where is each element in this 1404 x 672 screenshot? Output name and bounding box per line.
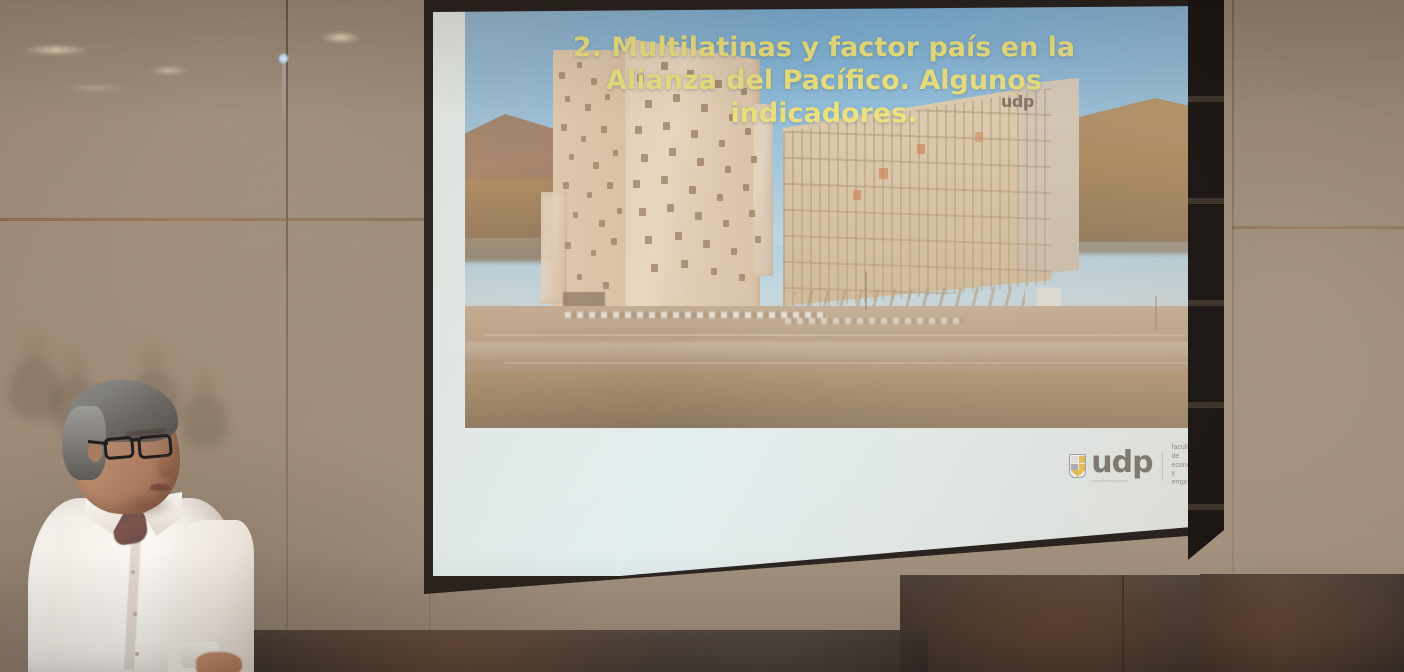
cube-window	[577, 274, 582, 280]
cube-window	[667, 204, 674, 212]
cube-window	[641, 154, 648, 162]
cube-window	[689, 186, 696, 194]
projected-slide: udp	[433, 6, 1203, 576]
light-reflection	[62, 86, 128, 90]
cube-window	[691, 130, 698, 138]
cube-window	[725, 166, 731, 173]
cube-window	[731, 248, 737, 255]
cube-window	[581, 136, 586, 142]
cube-window	[587, 192, 592, 198]
udp-subtitle: universidad diego portales	[1091, 480, 1152, 483]
cube-window	[639, 208, 646, 216]
cube-window	[751, 156, 757, 163]
hand	[196, 652, 242, 672]
cube-window	[661, 176, 668, 184]
cube-building-plinth	[541, 192, 567, 304]
udp-wordmark: udp universidad diego portales	[1091, 448, 1152, 483]
stone-wainscot	[1200, 574, 1404, 672]
photo-grass	[465, 372, 1203, 428]
ground-fence	[485, 334, 1185, 336]
cube-window	[703, 240, 710, 248]
projection-screen[interactable]: udp	[424, 0, 1214, 594]
cube-window	[743, 184, 749, 191]
cube-window	[695, 212, 702, 220]
presentation-scene: udp	[0, 0, 1404, 672]
lit-window	[917, 144, 925, 154]
cube-window	[723, 220, 729, 227]
shield-cell	[1071, 456, 1078, 463]
light-reflection	[320, 34, 362, 41]
shield-bottom	[1070, 470, 1085, 477]
lamp-post	[1155, 296, 1157, 330]
shirt-button	[135, 652, 139, 656]
cube-window	[697, 158, 704, 166]
mouth	[150, 484, 170, 491]
cube-window	[573, 212, 578, 218]
cube-window	[563, 182, 569, 189]
cube-window	[711, 268, 717, 275]
wall-seam-vertical	[1232, 0, 1234, 672]
nose	[158, 456, 174, 478]
light-reflection	[148, 68, 190, 73]
udp-word: udp	[1091, 448, 1152, 478]
shirt-button	[131, 570, 135, 574]
cube-window	[717, 194, 723, 201]
cube-window	[565, 242, 571, 249]
cube-window	[675, 232, 682, 240]
lit-window	[975, 132, 983, 142]
cube-window	[719, 140, 725, 147]
cube-window	[645, 236, 652, 244]
glasses-left-lens	[103, 436, 135, 461]
shield-cell	[1079, 456, 1086, 463]
slide-footer-logo: udp universidad diego portales facultad …	[1069, 444, 1203, 488]
screen-frame-right-segments	[1188, 0, 1224, 560]
stone-wainscot	[248, 630, 928, 672]
slide-title-line-1: 2. Multilatinas y factor país en la	[529, 32, 1119, 65]
slide-title-line-3: indicadores.	[529, 98, 1119, 131]
udp-shield-icon	[1069, 454, 1086, 478]
cube-window	[603, 282, 609, 289]
cube-window	[593, 162, 599, 169]
wall-seam-horizontal	[1232, 226, 1404, 229]
lamp-post	[865, 272, 867, 310]
lit-window	[853, 190, 861, 200]
photo-road	[465, 342, 1203, 360]
light-streak	[283, 62, 285, 120]
wall-seam-horizontal	[0, 218, 430, 221]
shirt-button	[133, 612, 137, 616]
shield-cell	[1079, 464, 1086, 471]
cube-window	[669, 148, 676, 156]
slide-title: 2. Multilatinas y factor país en la Alia…	[529, 32, 1119, 131]
light-reflection	[20, 47, 92, 53]
cube-window	[651, 264, 658, 272]
cube-window	[607, 182, 613, 189]
cube-window	[569, 154, 574, 160]
cube-window	[613, 150, 618, 156]
ear	[88, 442, 102, 462]
cube-window	[739, 274, 745, 281]
cube-window	[633, 180, 640, 188]
logo-divider	[1162, 451, 1163, 481]
cube-window	[599, 220, 605, 227]
ground-path	[505, 362, 1195, 364]
presenter	[0, 380, 330, 672]
lit-window	[879, 168, 888, 179]
cube-window	[591, 250, 596, 256]
slide-content: udp	[433, 6, 1203, 576]
cube-window	[755, 236, 761, 243]
cube-window	[681, 260, 688, 268]
slide-title-line-2: Alianza del Pacífico. Algunos	[529, 65, 1119, 98]
parking-cars	[785, 318, 965, 324]
chin-shadow	[118, 492, 174, 518]
cube-window	[611, 238, 617, 245]
cube-window	[749, 210, 755, 217]
cube-window	[617, 208, 622, 214]
shield-cell	[1071, 464, 1078, 471]
